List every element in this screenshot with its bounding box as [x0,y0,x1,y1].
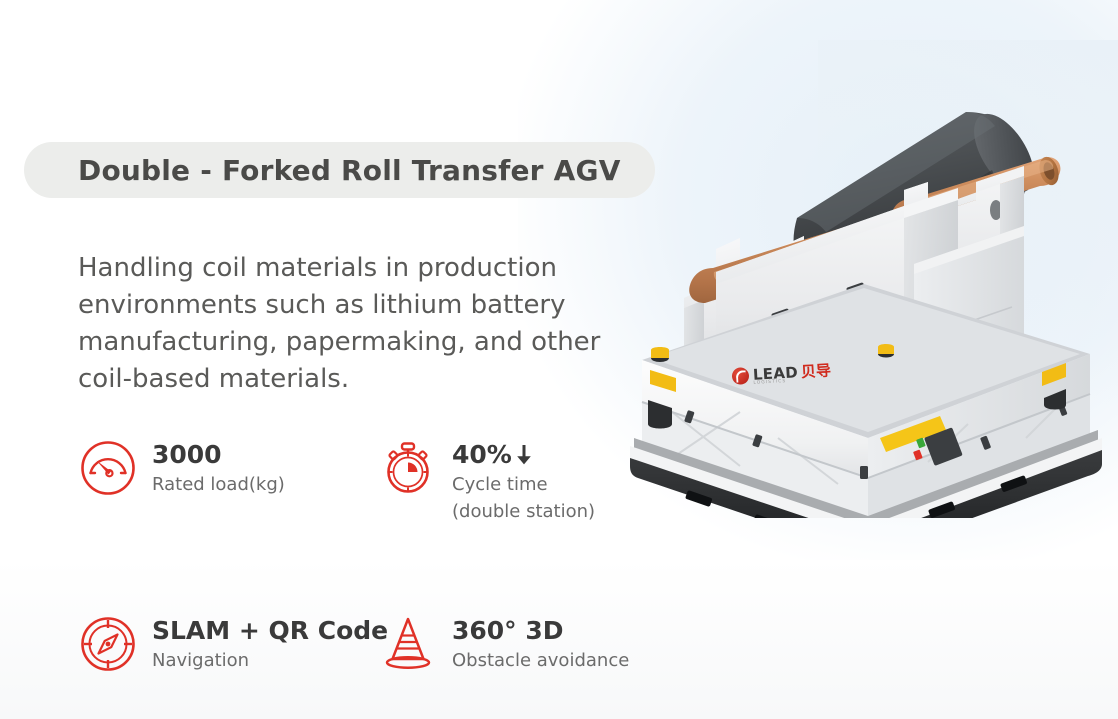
spec-text: 40% Cycle time (double station) [452,436,595,524]
spec-row: SLAM + QR Code Navigation [78,612,678,674]
title-pill: Double - Forked Roll Transfer AGV [24,142,655,198]
spec-value: 40% [452,440,595,470]
spec-row: 3000 Rated load(kg) [78,436,678,524]
spec-value-number: 360° 3D [452,616,564,646]
spec-label-line1: Cycle time [452,473,595,497]
spec-value-number: 3000 [152,440,222,470]
spec-item-rated-load: 3000 Rated load(kg) [78,436,378,524]
page-title: Double - Forked Roll Transfer AGV [78,154,621,187]
product-slide: Double - Forked Roll Transfer AGV Handli… [0,0,1118,719]
spec-text: 3000 Rated load(kg) [152,436,285,497]
spec-value: SLAM + QR Code [152,616,388,646]
down-arrow-icon [514,443,534,467]
spec-item-obstacle-avoidance: 360° 3D Obstacle avoidance [378,612,678,674]
gauge-icon [78,438,138,498]
spec-label: Navigation [152,649,388,673]
spec-text: SLAM + QR Code Navigation [152,612,388,673]
spec-value: 360° 3D [452,616,629,646]
brand-logo-text-cn: 贝导 [801,363,832,380]
agv-product-image [628,86,1104,518]
traffic-cone-icon [378,614,438,674]
spec-value-number: 40% [452,440,512,470]
spec-label-line2: (double station) [452,500,595,524]
spec-list: 3000 Rated load(kg) [78,436,678,674]
spec-text: 360° 3D Obstacle avoidance [452,612,629,673]
spec-label: Rated load(kg) [152,473,285,497]
spec-item-navigation: SLAM + QR Code Navigation [78,612,378,674]
spec-value-number: SLAM + QR Code [152,616,388,646]
lead-logo-mark-icon [732,367,750,385]
spec-label: Obstacle avoidance [452,649,629,673]
product-description: Handling coil materials in production en… [78,250,646,398]
compass-icon [78,614,138,674]
spec-value: 3000 [152,440,285,470]
stopwatch-icon [378,438,438,498]
